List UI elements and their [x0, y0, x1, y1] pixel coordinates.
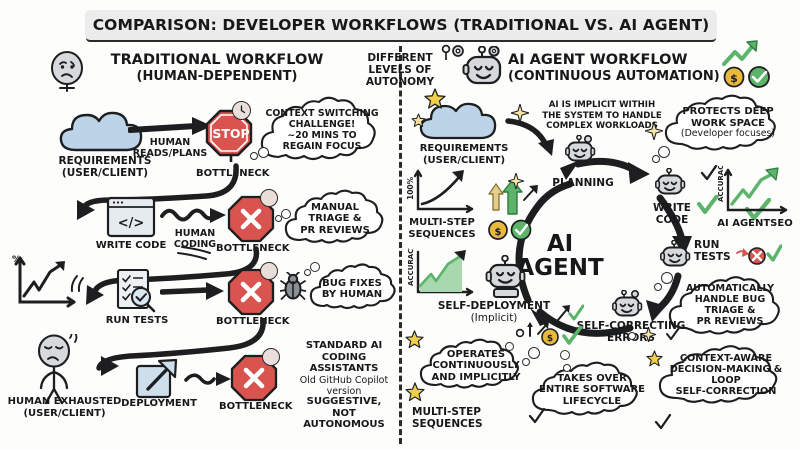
clock-icon-4	[262, 348, 280, 366]
deployment-icon	[134, 358, 182, 402]
robot-icon-run-tests	[660, 240, 694, 270]
thought-dot-small	[654, 283, 662, 291]
multi-step-caption-line1: MULTI-STEP	[396, 217, 488, 229]
edge-label-line1: HUMAN	[132, 137, 208, 148]
autonomy-note-line3: AUTONOMY	[355, 76, 445, 88]
cloud-line: AND IMPLICITLY	[432, 372, 521, 384]
thought-dot-small	[522, 358, 530, 366]
small-green-arrow-check	[556, 300, 584, 324]
cloud-bug-fixes-text: BUG FIXES BY HUMAN	[308, 265, 396, 313]
multi-step-caption-line2: SEQUENCES	[396, 229, 488, 241]
multi-step-chart-caption: MULTI-STEP SEQUENCES	[396, 217, 488, 240]
cloud-line: LIFECYCLE	[563, 396, 622, 408]
thought-dot-large	[528, 347, 540, 359]
run-tests-result-icons	[736, 244, 782, 268]
standard-ai-footnote: STANDARD AI CODING ASSISTANTS Old GitHub…	[290, 340, 398, 397]
cloud-operates-continuously-text: OPERATES CONTINUOUSLY AND IMPLICITLY	[418, 339, 534, 393]
cloud-line: CONTINUOUSLY	[432, 360, 519, 372]
clock-icon-1	[232, 101, 251, 120]
accuracy-axis-label: ACCURACY	[407, 248, 415, 286]
bottleneck-label-4: BOTTLENECK	[219, 401, 291, 413]
infographic-canvas: COMPARISON: DEVELOPER WORKFLOWS (TRADITI…	[0, 0, 800, 450]
autonomy-note: DIFFERENT LEVELS OF AUTONOMY	[355, 52, 445, 89]
robot-icon-write-code	[655, 168, 689, 198]
cloud-line: REGAIN FOCUS	[283, 142, 362, 153]
cloud-line: TRIAGE &	[704, 305, 755, 316]
robot-icon-self-deployment	[485, 255, 529, 299]
page-title: COMPARISON: DEVELOPER WORKFLOWS (TRADITI…	[85, 10, 717, 40]
growth-indicators-group: $	[718, 38, 794, 90]
ai-implicit-note-line1: AI IS IMPLICIT WITHIH	[530, 100, 674, 111]
cloud-line: SELF-CORRECTION	[676, 386, 777, 397]
suggestive-footnote: SUGGESTIVE, NOT AUTONOMOUS	[290, 396, 398, 431]
cloud-line: LOOP	[711, 375, 740, 386]
cloud-line: HANDLE BUG	[695, 294, 765, 305]
page-title-text: COMPARISON: DEVELOPER WORKFLOWS (TRADITI…	[93, 16, 710, 34]
clock-icon-3	[260, 262, 278, 280]
cloud-takes-over-lifecycle-text: TAKES OVER ENTIRE SOFTWARE LIFECYCLE	[530, 362, 654, 418]
deployment-label: DEPLOYMENT	[116, 398, 202, 410]
cloud-line: BUG FIXES	[322, 278, 382, 290]
multi-step-chart-top: 100%	[404, 168, 478, 218]
clock-icon-2	[260, 189, 278, 207]
bottom-caption-line2: SEQUENCES	[412, 418, 524, 430]
ai-agentseo-caption: AI AGENTSEO	[714, 218, 796, 230]
growth-indicators-group-2: $	[484, 180, 548, 242]
footnote-line3: Old GitHub Copilot	[290, 375, 398, 386]
star-icon-5	[646, 350, 663, 367]
check-icon-small-black-4	[666, 326, 680, 340]
footnote-line1: STANDARD AI	[290, 340, 398, 352]
thought-dot-small-4	[563, 364, 571, 372]
human-exhausted-label: HUMAN EXHAUSTED (USER/CLIENT)	[2, 396, 127, 419]
cloud-line: PR REVIEWS	[697, 316, 764, 327]
cloud-line: TAKES OVER	[557, 373, 627, 385]
cloud-takes-over-lifecycle: TAKES OVER ENTIRE SOFTWARE LIFECYCLE	[530, 362, 654, 418]
cycle-label-run-tests-line1: RUN	[694, 239, 736, 251]
cloud-line: BY HUMAN	[322, 289, 382, 301]
bug-icon	[280, 272, 306, 302]
star-icon-4	[405, 382, 425, 402]
thought-dot-large	[310, 262, 320, 272]
cloud-context-switching-text: CONTEXT SWITCHING CHALLENGE! ~20 MINS TO…	[256, 97, 388, 165]
thought-dot-small-2	[505, 342, 514, 351]
star-icon-1	[424, 88, 446, 110]
cloud-context-aware-text: CONTEXT-AWARE DECISION-MAKING & LOOP SEL…	[656, 344, 796, 406]
pin-gear-icon	[440, 44, 466, 66]
accuracy-chart-filled: ACCURACY	[404, 248, 478, 304]
ai-agentseo-axis-label: ACCURACY	[717, 166, 725, 202]
footnote-line6: NOT AUTONOMOUS	[290, 408, 398, 431]
cloud-line: OPERATES	[447, 349, 505, 361]
cycle-label-planning: PLANNING	[547, 177, 619, 189]
check-icon-small-black-3	[654, 414, 672, 430]
sparkle-icon-3	[508, 173, 524, 189]
svg-text:$: $	[730, 72, 738, 85]
cycle-label-run-tests: RUN TESTS	[694, 239, 736, 263]
thought-dot-large	[281, 209, 291, 219]
squiggly-arrow-human-coding	[160, 200, 234, 228]
star-icon-3	[405, 330, 424, 349]
cloud-line: CONTEXT-AWARE	[680, 353, 772, 364]
sparkle-icon-4	[641, 327, 656, 342]
robot-icon-planning	[565, 135, 599, 165]
svg-text:</>: </>	[118, 216, 145, 231]
cloud-line: ENTIRE SOFTWARE	[539, 384, 645, 396]
edge-label-line1: HUMAN	[162, 228, 228, 239]
cloud-line: TRIAGE &	[308, 213, 361, 225]
cloud-line: PR REVIEWS	[300, 225, 370, 237]
svg-text:STOP: STOP	[212, 126, 249, 141]
thought-dot-small	[304, 269, 311, 276]
cycle-label-write-code-line2: CODE	[640, 214, 704, 226]
small-up-arrows-group	[516, 316, 550, 340]
star-icon-2	[411, 113, 426, 128]
cycle-label-write-code-line1: WRITE	[640, 202, 704, 214]
panel-divider	[399, 46, 402, 444]
cloud-manual-triage: MANUAL TRIAGE & PR REVIEWS	[282, 190, 388, 248]
check-icon-small-black-2	[528, 408, 546, 424]
thought-dot-small-3	[560, 350, 570, 360]
sparkle-icon-1	[511, 104, 529, 122]
autonomy-note-line1: DIFFERENT	[355, 52, 445, 64]
cloud-line: PROTECTS DEEP	[682, 106, 773, 118]
autonomy-note-line2: LEVELS OF	[355, 64, 445, 76]
percent-axis-label: %	[12, 255, 21, 265]
cloud-operates-continuously: OPERATES CONTINUOUSLY AND IMPLICITLY	[418, 339, 534, 393]
thought-dot-large	[258, 147, 269, 158]
left-panel-header-line1: TRADITIONAL WORKFLOW	[92, 52, 342, 69]
cloud-context-aware: CONTEXT-AWARE DECISION-MAKING & LOOP SEL…	[656, 344, 796, 406]
human-exhausted-line2: (USER/CLIENT)	[2, 408, 127, 420]
bottom-caption-line1: MULTI-STEP	[412, 406, 524, 418]
cloud-bug-fixes: BUG FIXES BY HUMAN	[308, 265, 396, 313]
cycle-label-run-tests-line2: TESTS	[694, 251, 736, 263]
run-tests-icon	[112, 268, 160, 314]
ai-agentseo-chart: ACCURACY	[716, 166, 792, 220]
cloud-manual-triage-text: MANUAL TRIAGE & PR REVIEWS	[282, 190, 388, 248]
human-exhausted-line1: HUMAN EXHAUSTED	[2, 396, 127, 408]
worried-human-face-icon	[47, 50, 87, 94]
bottom-multi-step-caption: MULTI-STEP SEQUENCES	[412, 406, 524, 430]
cloud-line: AUTOMATICALLY	[686, 283, 774, 294]
robot-icon-self-correcting	[612, 290, 646, 320]
arrow-run-tests-to-bottleneck	[160, 278, 230, 304]
cloud-context-switching: CONTEXT SWITCHING CHALLENGE! ~20 MINS TO…	[256, 97, 388, 165]
robot-face-icon	[462, 46, 508, 90]
thought-dot-small	[250, 152, 258, 160]
footnote-line2: CODING ASSISTANTS	[290, 352, 398, 375]
footnote-line5: SUGGESTIVE,	[290, 396, 398, 408]
svg-text:$: $	[495, 227, 502, 238]
left-panel-header-line2: (HUMAN-DEPENDENT)	[92, 69, 342, 84]
cloud-line: DECISION-MAKING &	[670, 364, 782, 375]
thought-dot-large	[661, 272, 673, 284]
cloud-line: MANUAL	[311, 202, 359, 214]
edge-label-human-reads-plans: HUMAN READS/PLANS	[132, 137, 208, 159]
multi-step-axis-label: 100%	[406, 176, 415, 200]
thought-dot-small-5	[628, 332, 636, 340]
percent-trend-chart: %	[6, 252, 80, 312]
sparkle-icon-2	[645, 122, 663, 140]
cycle-label-write-code: WRITE CODE	[640, 202, 704, 226]
cloud-line: (Developer focuses)	[681, 129, 775, 140]
write-code-window-icon: </>	[106, 196, 156, 238]
left-panel-header: TRADITIONAL WORKFLOW (HUMAN-DEPENDENT)	[92, 52, 342, 84]
